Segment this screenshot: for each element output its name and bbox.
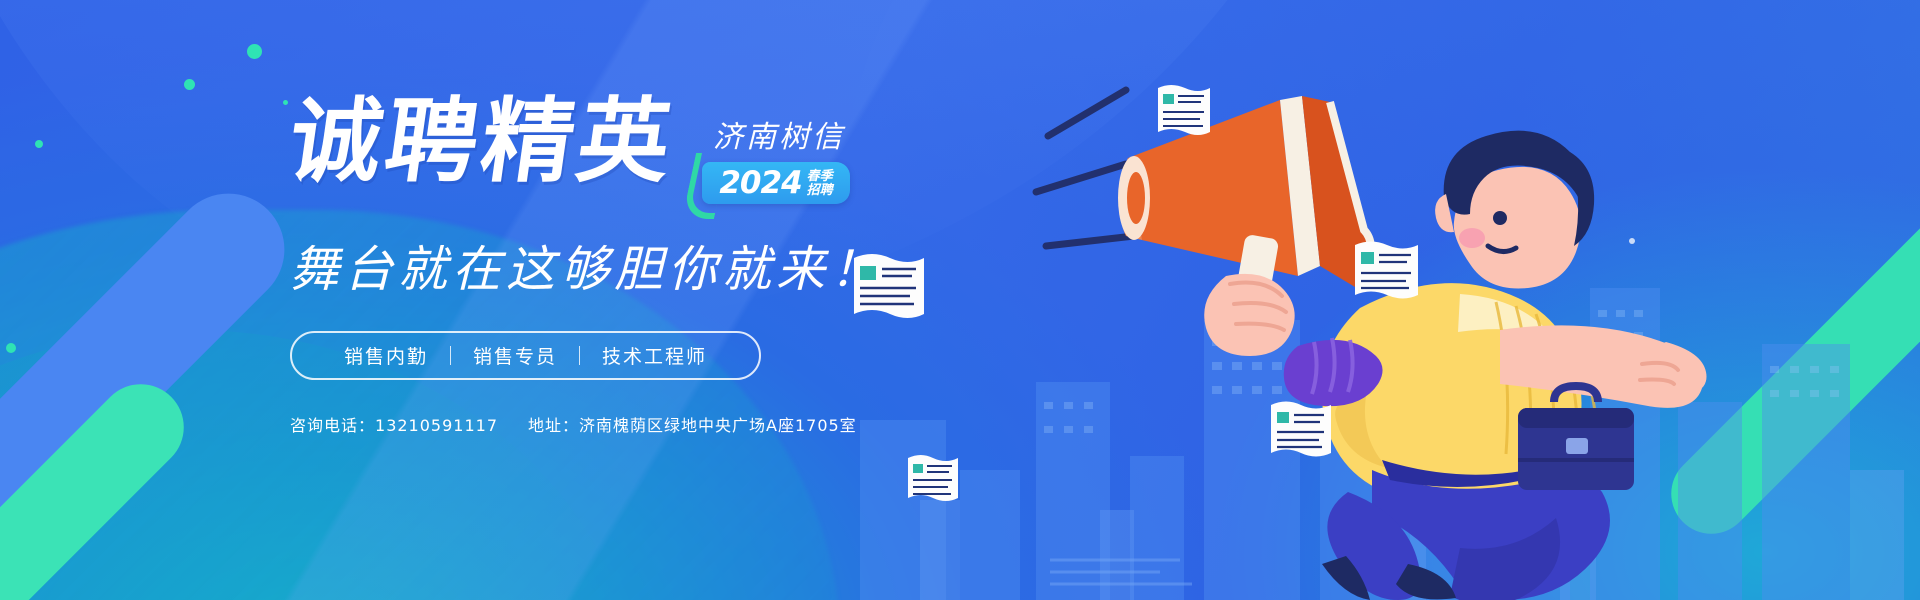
contact-address-label: 地址： [528,416,579,435]
contact-phone-value: 13210591117 [375,416,498,435]
badge-season: 春季 招聘 [807,169,833,196]
banner-text-block: 诚聘精英 济南树信 2024 春季 招聘 舞台就在这够胆你就来！ 销售内勤 销售… [290,96,1050,380]
resume-paper-icon [1155,82,1213,138]
man-with-megaphone-illustration [1030,40,1770,600]
resume-paper-icon [1268,398,1334,460]
resume-paper-icon [905,452,961,504]
decorative-dot [247,44,262,59]
subtitle: 舞台就在这够胆你就来！ [290,230,1050,301]
job-tag-sales-support[interactable]: 销售内勤 [322,342,450,369]
contact-phone: 咨询电话：13210591117 [290,412,498,436]
recruitment-banner: 诚聘精英 济南树信 2024 春季 招聘 舞台就在这够胆你就来！ 销售内勤 销售… [0,0,1920,600]
brand-name: 济南树信 [702,112,850,156]
badge-year: 2024 [719,165,801,201]
page-title: 诚聘精英 [284,96,681,188]
contact-phone-label: 咨询电话： [290,416,375,435]
decorative-dot [6,343,16,353]
decorative-dot [283,100,288,105]
season-badge: 2024 春季 招聘 [702,162,850,204]
job-tag-sales-rep[interactable]: 销售专员 [451,342,579,369]
contact-address-value: 济南槐荫区绿地中央广场A座1705室 [579,416,857,435]
job-tag-tech-engineer[interactable]: 技术工程师 [580,342,729,369]
contact-info: 咨询电话：13210591117 地址：济南槐荫区绿地中央广场A座1705室 [290,412,857,436]
arm-holding-megaphone [1204,274,1294,356]
resume-paper-icon [1352,238,1422,302]
job-tags-pill: 销售内勤 销售专员 技术工程师 [290,331,761,380]
brand-badge: 济南树信 2024 春季 招聘 [702,112,850,204]
badge-season-line2: 招聘 [807,183,833,197]
decorative-dot [35,140,43,148]
headline-row: 诚聘精英 济南树信 2024 春季 招聘 [290,96,1050,204]
badge-season-line1: 春季 [807,169,833,183]
head [1435,131,1594,289]
contact-address: 地址：济南槐荫区绿地中央广场A座1705室 [528,412,857,436]
sound-lines-icon [1036,90,1134,246]
decorative-dot [184,79,195,90]
